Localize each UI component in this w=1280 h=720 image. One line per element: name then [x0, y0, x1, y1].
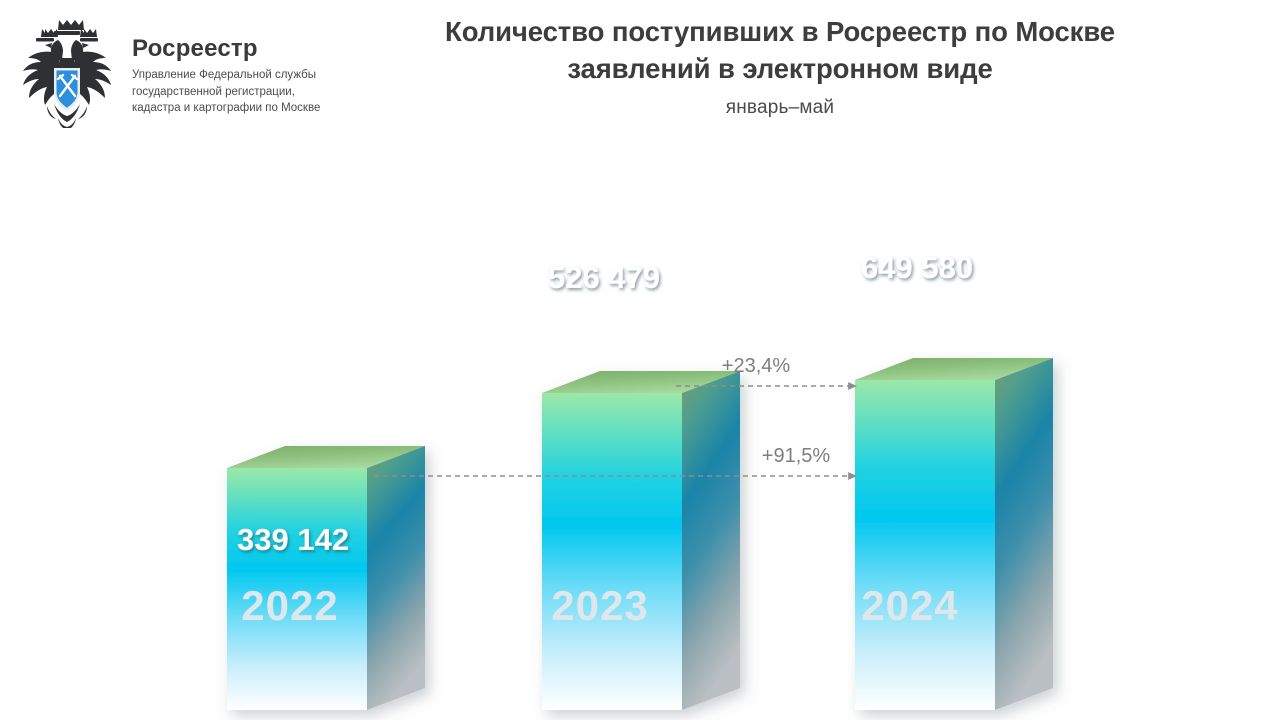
org-subtitle-line-3: кадастра и картографии по Москве [132, 100, 320, 116]
bar-side-face-2024 [995, 358, 1053, 710]
bar-chart: 339 142 526 479 649 580 +23,4% +91,5% 20… [0, 150, 1280, 720]
page-subtitle: январь–май [330, 97, 1230, 119]
bar-side-face-2023 [682, 371, 740, 710]
org-subtitle-line-2: государственной регистрации, [132, 84, 320, 100]
bar-group-2022[interactable] [227, 446, 425, 710]
bar-side-face-2022-lower [367, 446, 425, 710]
annotation-label-23-4: +23,4% [722, 355, 791, 377]
year-label-2024: 2024 [861, 582, 958, 629]
bar-group-2024[interactable] [855, 358, 1053, 710]
annotation-label-91-5: +91,5% [762, 445, 831, 467]
chart-canvas: 339 142 526 479 649 580 +23,4% +91,5% 20… [0, 150, 1280, 720]
bar-front-face-2024 [855, 380, 995, 710]
title-line-2: заявлений в электронном виде [330, 51, 1230, 88]
page-title: Количество поступивших в Росреестр по Мо… [330, 14, 1230, 119]
bar-group-2023[interactable] [542, 371, 740, 710]
rosreestr-double-eagle-emblem-icon [14, 16, 120, 128]
title-line-1: Количество поступивших в Росреестр по Мо… [330, 14, 1230, 51]
logo-text-block: Росреестр Управление Федеральной службы … [132, 16, 320, 116]
year-label-2023: 2023 [551, 582, 648, 629]
bar-value-2023: 526 479 [548, 260, 660, 295]
org-subtitle-line-1: Управление Федеральной службы [132, 67, 320, 83]
org-name: Росреестр [132, 36, 320, 62]
year-label-2022: 2022 [241, 582, 338, 629]
bar-value-2024: 649 580 [861, 250, 973, 285]
logo-block: Росреестр Управление Федеральной службы … [14, 16, 320, 128]
org-subtitle: Управление Федеральной службы государств… [132, 67, 320, 116]
bar-front-face-2023 [542, 393, 682, 710]
header-bar: Росреестр Управление Федеральной службы … [0, 0, 1280, 150]
bar-value-2022: 339 142 [237, 522, 349, 557]
